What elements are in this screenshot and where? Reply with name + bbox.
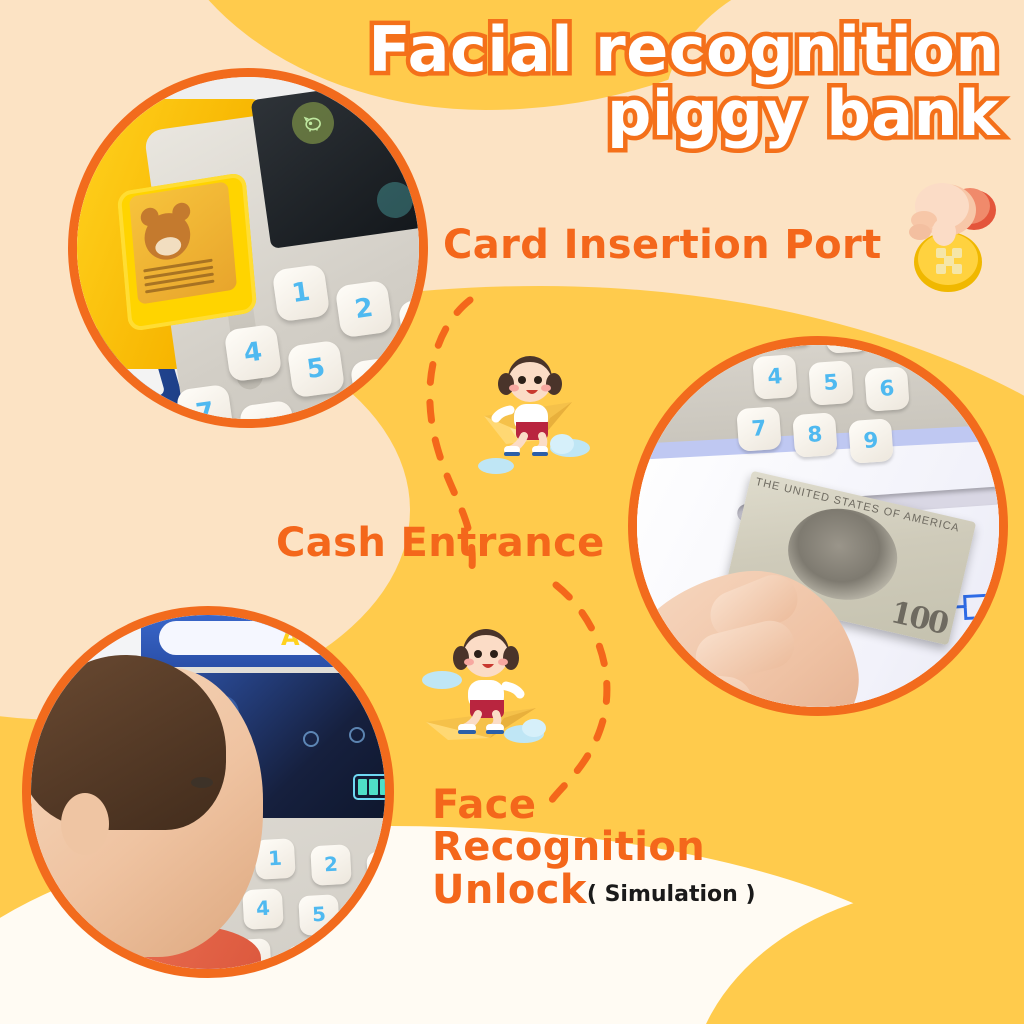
child-ear	[61, 793, 109, 855]
screen-dot-1	[303, 731, 319, 747]
label-face-line-1: Face	[432, 784, 756, 826]
simulation-note: ( Simulation )	[587, 882, 756, 907]
girl-on-paper-plane-illustration	[466, 344, 596, 474]
label-card-insertion-port: Card Insertion Port	[443, 222, 882, 268]
screen-dot-2	[349, 727, 365, 743]
infographic-canvas: Facial recognition piggy bank	[0, 0, 1024, 1024]
label-face-recognition-unlock: Face Recognition Unlock( Simulation )	[432, 784, 756, 911]
battery-indicator	[353, 774, 385, 800]
keypad-key-6[interactable]: 6	[864, 366, 910, 412]
keypad-key-7[interactable]: 7	[736, 406, 782, 452]
battery-bar	[380, 779, 385, 795]
label-face-line-3: Unlock	[432, 867, 587, 913]
cash-entrance-photo: 123456789 CE THE UNITED STATES OF AMERIC…	[628, 336, 1008, 716]
keypad-key-9[interactable]: 9	[848, 418, 894, 464]
keypad-key-4[interactable]: 4	[752, 354, 798, 400]
keypad-key-4[interactable]: 4	[224, 324, 283, 383]
battery-bar	[369, 779, 378, 795]
keypad-key-8[interactable]: 8	[792, 412, 838, 458]
hand-holding-coin-icon	[896, 176, 1008, 304]
keypad-key-5[interactable]: 5	[298, 894, 340, 936]
card-text-lines	[143, 259, 215, 298]
keypad-key-2[interactable]: 2	[310, 844, 352, 886]
keypad-key-5[interactable]: 5	[808, 360, 854, 406]
face-recognition-photo: ATM 1234567890	[22, 606, 394, 978]
page-title: Facial recognition piggy bank	[360, 18, 1000, 147]
keypad-key-4[interactable]: 4	[242, 888, 284, 930]
girl-on-paper-plane-illustration-2	[418, 616, 558, 756]
label-face-line-2: Recognition	[432, 826, 756, 868]
keypad-key-0[interactable]: 0	[358, 878, 385, 920]
atm-logo-text: ATM	[281, 623, 344, 651]
battery-bar	[358, 779, 367, 795]
keypad-key-8[interactable]: 8	[286, 944, 328, 969]
keypad-key-2[interactable]: 2	[335, 280, 394, 339]
keypad-key-5[interactable]: 5	[287, 340, 346, 399]
keypad-key-6[interactable]: 6	[350, 356, 409, 415]
page-title-line-2: piggy bank	[360, 82, 1000, 146]
keypad-key-1[interactable]: 1	[254, 838, 296, 880]
label-cash-entrance: Cash Entrance	[276, 520, 605, 566]
keypad-key-enter[interactable]	[366, 922, 385, 964]
page-title-line-1: Facial recognition	[360, 18, 1000, 82]
child-eye	[191, 777, 213, 788]
label-face-line-3-row: Unlock( Simulation )	[432, 869, 756, 911]
bear-card	[129, 181, 237, 304]
keypad-key-1[interactable]: 1	[272, 264, 331, 323]
